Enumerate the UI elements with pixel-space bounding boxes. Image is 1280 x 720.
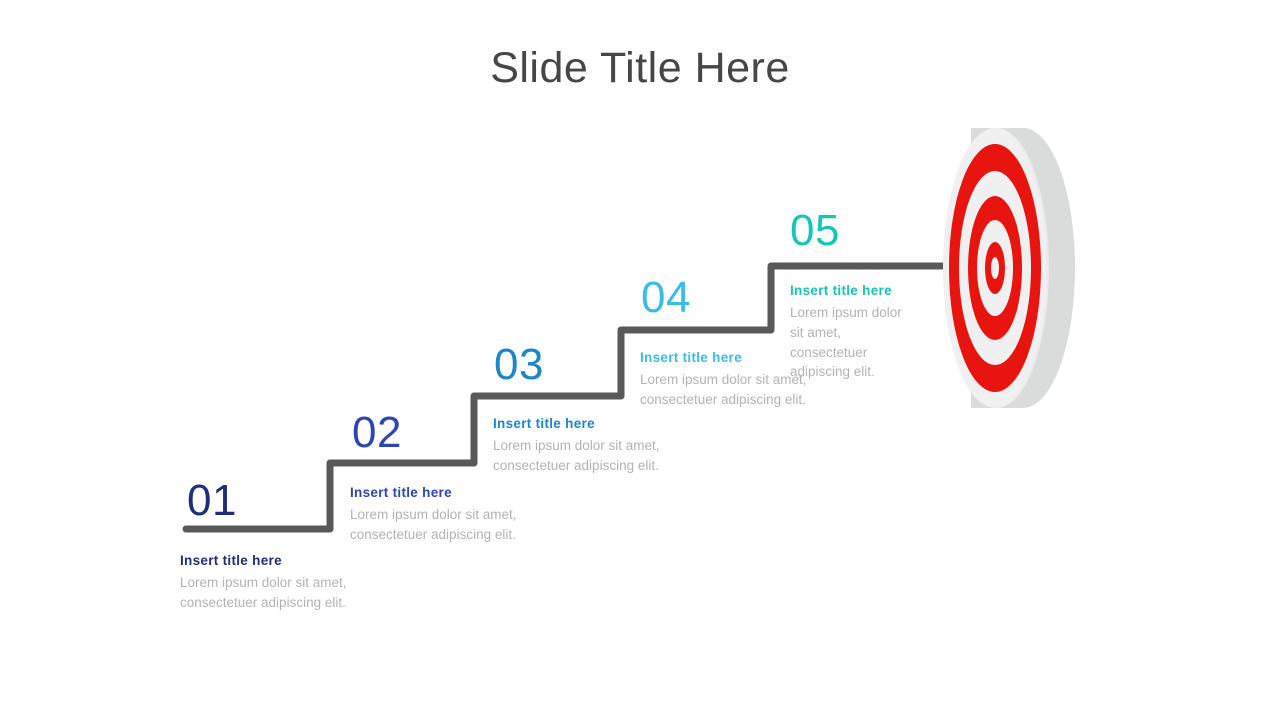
step-title-05: Insert title here xyxy=(790,281,912,301)
step-body-05: Lorem ipsum dolor sit amet, consectetuer… xyxy=(790,303,912,383)
step-number-04: 04 xyxy=(641,276,691,320)
step-text-block-05: Insert title here Lorem ipsum dolor sit … xyxy=(790,281,912,382)
step-number-03: 03 xyxy=(494,343,544,387)
step-text-block-01: Insert title here Lorem ipsum dolor sit … xyxy=(180,551,380,613)
step-body-03: Lorem ipsum dolor sit amet, consectetuer… xyxy=(493,436,693,476)
step-number-05: 05 xyxy=(790,209,840,253)
step-number-02: 02 xyxy=(352,411,402,455)
step-number-01: 01 xyxy=(187,479,237,523)
step-title-03: Insert title here xyxy=(493,414,693,434)
step-body-02: Lorem ipsum dolor sit amet, consectetuer… xyxy=(350,505,550,545)
page-title: Slide Title Here xyxy=(0,44,1280,93)
target-icon xyxy=(935,126,1115,411)
slide-canvas: Slide Title Here 01 02 03 04 05 Insert t… xyxy=(0,0,1280,720)
bullseye-target xyxy=(935,126,1115,411)
step-text-block-02: Insert title here Lorem ipsum dolor sit … xyxy=(350,483,550,545)
step-title-01: Insert title here xyxy=(180,551,380,571)
step-text-block-03: Insert title here Lorem ipsum dolor sit … xyxy=(493,414,693,476)
step-title-02: Insert title here xyxy=(350,483,550,503)
step-body-01: Lorem ipsum dolor sit amet, consectetuer… xyxy=(180,573,380,613)
